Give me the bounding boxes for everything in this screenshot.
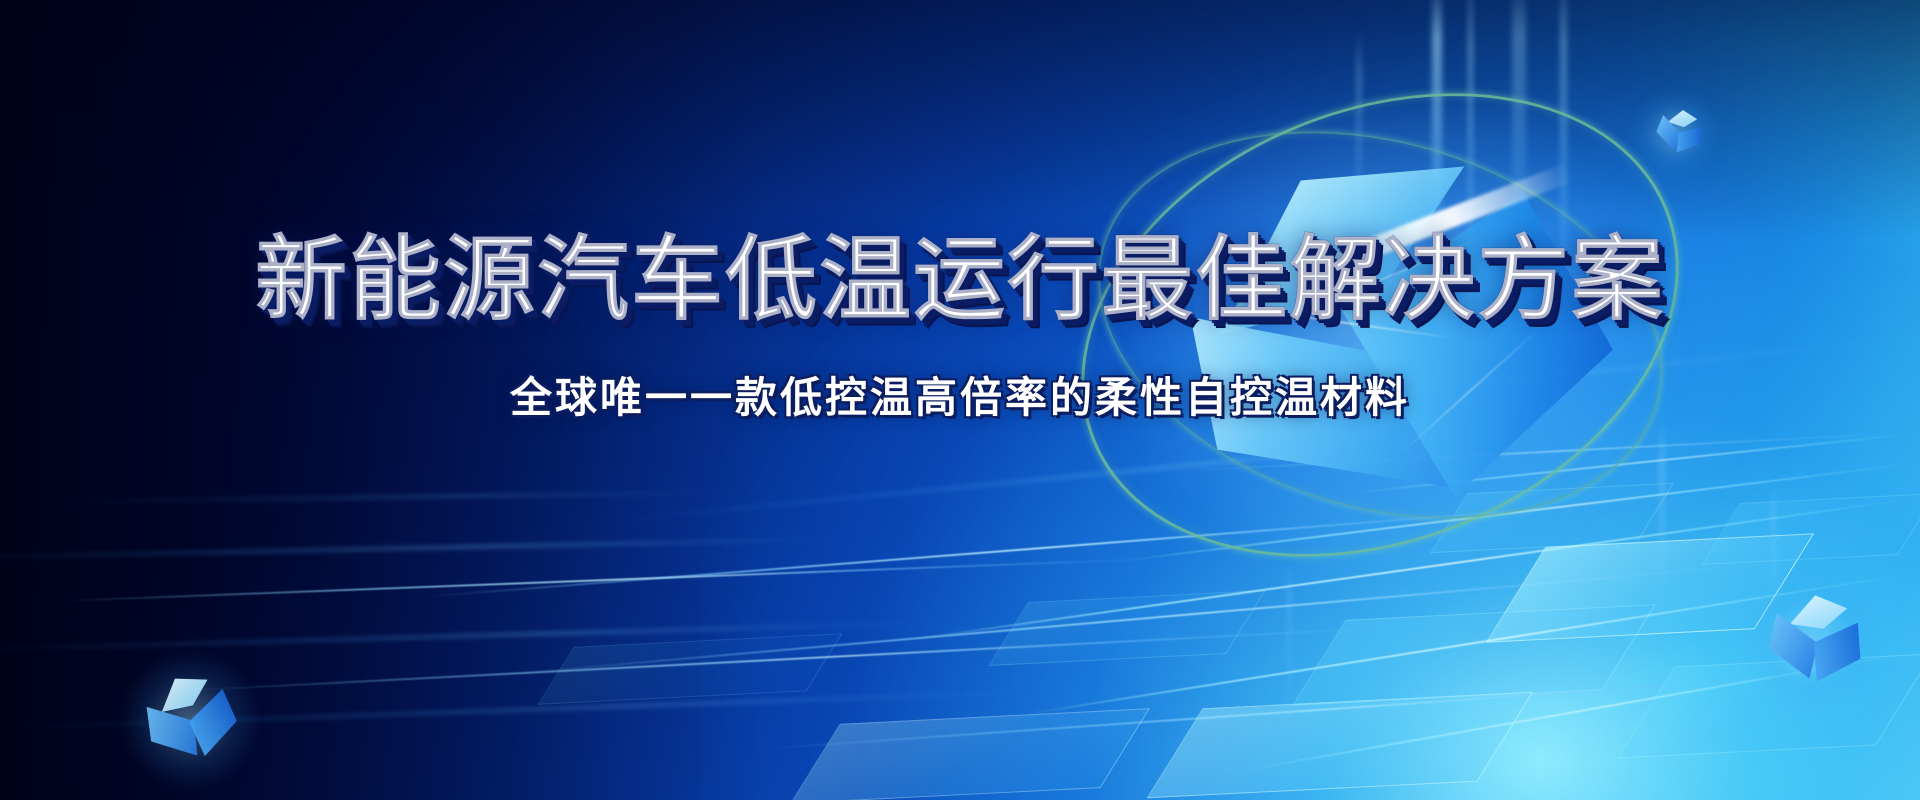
- page-subtitle: 全球唯一一款低控温高倍率的柔性自控温材料: [0, 364, 1920, 425]
- circuit-panel: [1147, 692, 1534, 799]
- circuit-panel: [538, 633, 843, 705]
- circuit-panel: [1292, 604, 1656, 706]
- hero-text-block: 新能源汽车低温运行最佳解决方案 全球唯一一款低控温高倍率的柔性自控温材料: [0, 232, 1920, 425]
- page-title: 新能源汽车低温运行最佳解决方案: [0, 232, 1920, 328]
- circuit-panel: [790, 708, 1150, 800]
- hero-banner: 新能源汽车低温运行最佳解决方案 全球唯一一款低控温高倍率的柔性自控温材料: [0, 0, 1920, 800]
- circuit-panel: [988, 590, 1266, 666]
- circuit-panel: [1702, 493, 1920, 565]
- floating-cube-right: [1762, 590, 1870, 698]
- floating-cube-bottom-left: [137, 667, 246, 776]
